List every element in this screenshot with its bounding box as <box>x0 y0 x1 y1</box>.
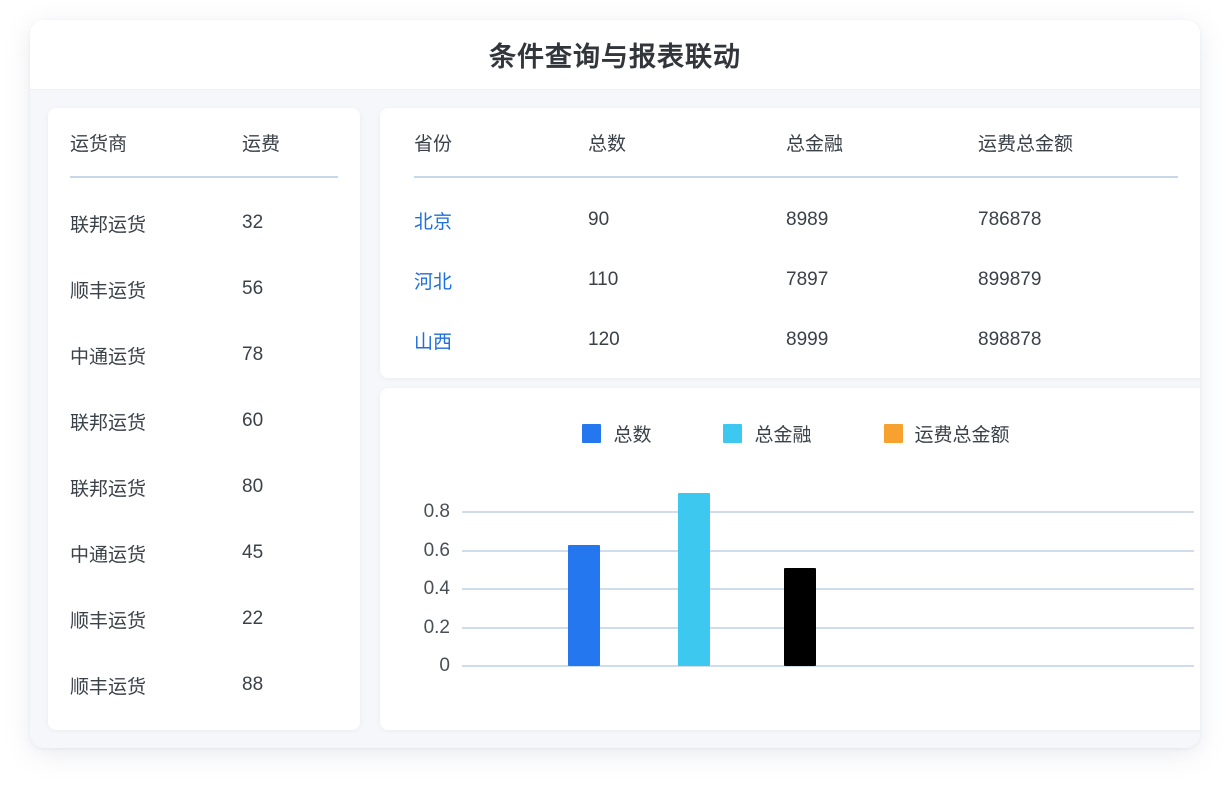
cell-fee: 80 <box>242 476 336 498</box>
cell-province-link[interactable]: 河北 <box>414 267 588 294</box>
chart-bar[interactable] <box>678 493 710 666</box>
report-window: 条件查询与报表联动 运货商 运费 联邦运货32顺丰运货56中通运货78联邦运货6… <box>30 20 1200 748</box>
cell-fee: 78 <box>242 344 336 366</box>
legend-label: 总数 <box>613 420 651 447</box>
cell-fee: 22 <box>242 608 336 630</box>
chart-bar[interactable] <box>568 545 600 666</box>
cell-fee: 45 <box>242 542 336 564</box>
cell-fee: 56 <box>242 278 336 300</box>
column-header-fee: 运费 <box>242 129 336 156</box>
shipper-table-row[interactable]: 中通运货78 <box>70 322 338 388</box>
cell-count: 90 <box>588 209 786 231</box>
legend-swatch-icon <box>582 424 601 443</box>
chart-legend: 总数总金融运费总金额 <box>380 420 1200 447</box>
shipper-table-row[interactable]: 顺丰运货56 <box>70 256 338 322</box>
legend-label: 运费总金额 <box>915 420 1010 447</box>
cell-shipper: 联邦运货 <box>70 408 242 435</box>
content-area: 运货商 运费 联邦运货32顺丰运货56中通运货78联邦运货60联邦运货80中通运… <box>30 90 1200 748</box>
province-table-row[interactable]: 河北1107897899879 <box>414 250 1178 310</box>
cell-count: 110 <box>588 269 786 291</box>
y-axis-tick-label: 0.8 <box>392 501 450 523</box>
cell-finance: 8999 <box>786 329 978 351</box>
cell-shipper: 联邦运货 <box>70 474 242 501</box>
legend-item[interactable]: 总金融 <box>723 420 811 447</box>
chart-gridline <box>462 511 1194 513</box>
page-title: 条件查询与报表联动 <box>489 35 741 74</box>
column-header-province: 省份 <box>414 129 588 156</box>
chart-bar[interactable] <box>784 568 816 666</box>
y-axis-tick-label: 0 <box>392 655 450 677</box>
title-bar: 条件查询与报表联动 <box>30 20 1200 90</box>
y-axis-tick-label: 0.6 <box>392 540 450 562</box>
shipper-table-card: 运货商 运费 联邦运货32顺丰运货56中通运货78联邦运货60联邦运货80中通运… <box>48 108 360 730</box>
cell-freight-total: 898878 <box>978 329 1178 351</box>
cell-freight-total: 786878 <box>978 209 1178 231</box>
legend-swatch-icon <box>884 424 903 443</box>
province-table-body: 北京908989786878河北1107897899879山西120899989… <box>414 178 1178 370</box>
legend-item[interactable]: 总数 <box>582 420 651 447</box>
cell-finance: 7897 <box>786 269 978 291</box>
shipper-table-row[interactable]: 中通运货45 <box>70 520 338 586</box>
right-column: 省份 总数 总金融 运费总金额 北京908989786878河北11078978… <box>380 108 1200 730</box>
shipper-table-row[interactable]: 联邦运货32 <box>70 190 338 256</box>
province-table-row[interactable]: 山西1208999898878 <box>414 310 1178 370</box>
cell-fee: 60 <box>242 410 336 432</box>
province-table-row[interactable]: 北京908989786878 <box>414 190 1178 250</box>
chart-y-axis: 0.80.60.40.20 <box>392 466 450 702</box>
province-table-card: 省份 总数 总金融 运费总金额 北京908989786878河北11078978… <box>380 108 1200 378</box>
cell-shipper: 联邦运货 <box>70 210 242 237</box>
cell-count: 120 <box>588 329 786 351</box>
chart-grid-area <box>462 466 1194 702</box>
province-table-header: 省份 总数 总金融 运费总金额 <box>414 108 1178 178</box>
y-axis-tick-label: 0.2 <box>392 617 450 639</box>
shipper-table-header: 运货商 运费 <box>70 108 338 178</box>
legend-item[interactable]: 运费总金额 <box>884 420 1010 447</box>
legend-swatch-icon <box>723 424 742 443</box>
cell-province-link[interactable]: 北京 <box>414 207 588 234</box>
cell-finance: 8989 <box>786 209 978 231</box>
cell-shipper: 顺丰运货 <box>70 672 242 699</box>
cell-shipper: 顺丰运货 <box>70 276 242 303</box>
bar-chart-card: 总数总金融运费总金额 0.80.60.40.20 <box>380 388 1200 730</box>
shipper-table-row[interactable]: 顺丰运货88 <box>70 652 338 718</box>
shipper-table-body: 联邦运货32顺丰运货56中通运货78联邦运货60联邦运货80中通运货45顺丰运货… <box>70 178 338 718</box>
shipper-table-row[interactable]: 联邦运货60 <box>70 388 338 454</box>
column-header-shipper: 运货商 <box>70 129 242 156</box>
column-header-count: 总数 <box>588 129 786 156</box>
y-axis-tick-label: 0.4 <box>392 578 450 600</box>
cell-shipper: 中通运货 <box>70 342 242 369</box>
legend-label: 总金融 <box>754 420 811 447</box>
chart-plot-area: 0.80.60.40.20 <box>380 466 1200 702</box>
shipper-table-row[interactable]: 联邦运货80 <box>70 454 338 520</box>
cell-province-link[interactable]: 山西 <box>414 327 588 354</box>
cell-fee: 32 <box>242 212 336 234</box>
column-header-finance: 总金融 <box>786 129 978 156</box>
cell-freight-total: 899879 <box>978 269 1178 291</box>
cell-shipper: 中通运货 <box>70 540 242 567</box>
cell-shipper: 顺丰运货 <box>70 606 242 633</box>
shipper-table-row[interactable]: 顺丰运货22 <box>70 586 338 652</box>
column-header-freight-total: 运费总金额 <box>978 129 1178 156</box>
cell-fee: 88 <box>242 674 336 696</box>
